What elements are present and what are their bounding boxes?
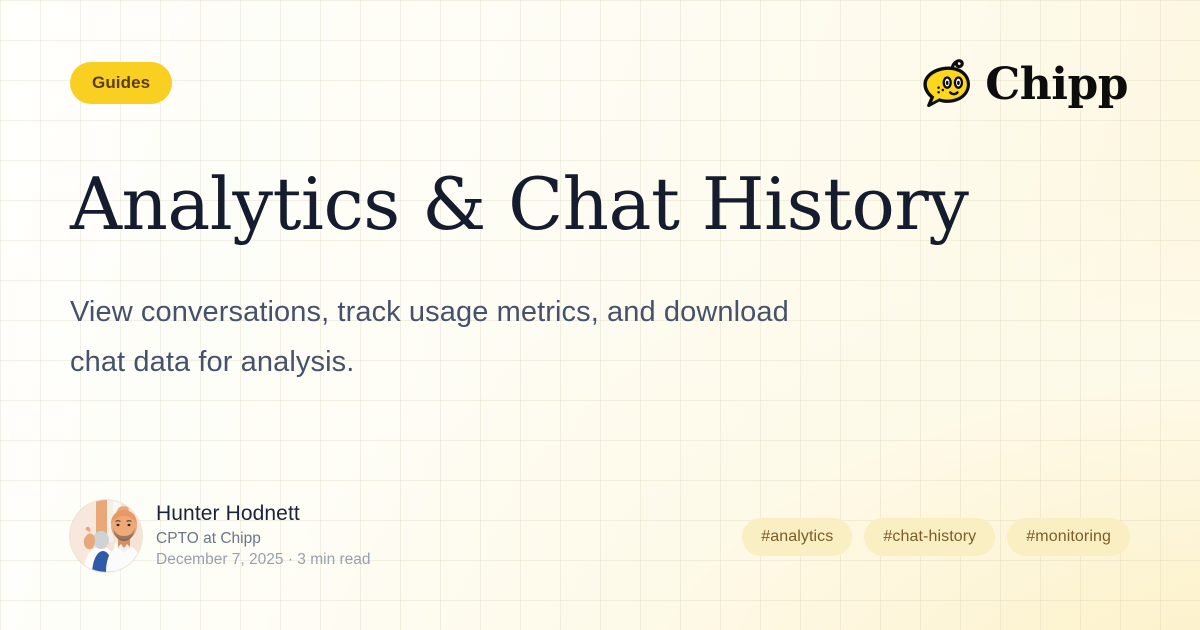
category-badge-label: Guides <box>92 73 150 93</box>
tag-item[interactable]: #monitoring <box>1007 518 1130 556</box>
author-name: Hunter Hodnett <box>156 501 371 527</box>
author-role: CPTO at Chipp <box>156 529 371 549</box>
author-block: Hunter Hodnett CPTO at Chipp December 7,… <box>70 500 371 572</box>
category-badge[interactable]: Guides <box>70 62 172 104</box>
tag-label: #analytics <box>761 528 833 546</box>
page-subtitle: View conversations, track usage metrics,… <box>70 288 830 388</box>
tag-item[interactable]: #chat-history <box>864 518 995 556</box>
chipp-chat-bubble-mascot-icon <box>919 57 977 111</box>
author-date-readtime: December 7, 2025 · 3 min read <box>156 550 371 571</box>
brand-wordmark: Chipp <box>985 63 1128 107</box>
card-content: Guides <box>0 0 1200 630</box>
page-title: Analytics & Chat History <box>70 166 1100 242</box>
tag-label: #monitoring <box>1026 528 1111 546</box>
tag-item[interactable]: #analytics <box>742 518 852 556</box>
author-meta: Hunter Hodnett CPTO at Chipp December 7,… <box>156 501 371 570</box>
tag-list: #analytics #chat-history #monitoring <box>742 518 1130 556</box>
social-card-canvas: Guides <box>0 0 1200 630</box>
tag-label: #chat-history <box>883 528 976 546</box>
author-avatar-photo <box>70 500 142 572</box>
brand-logo[interactable]: Chipp <box>919 54 1128 114</box>
